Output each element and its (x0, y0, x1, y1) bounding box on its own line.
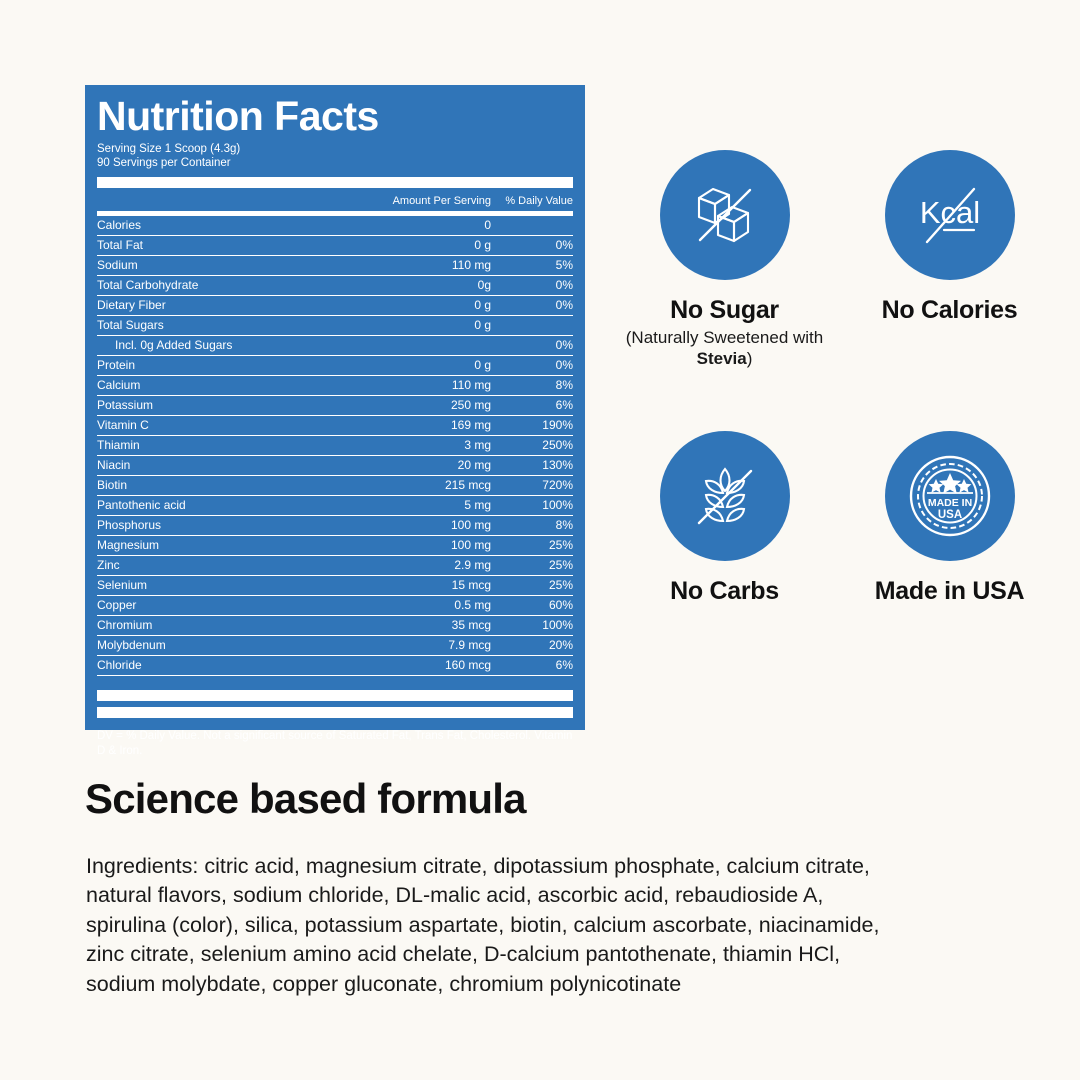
nutrient-daily-value: 25% (491, 538, 573, 552)
nutrient-amount: 3 mg (341, 438, 491, 452)
nutrient-amount: 0 (341, 218, 491, 232)
nutrient-row: Thiamin3 mg250% (97, 436, 573, 456)
badge-subtitle-prefix: (Naturally Sweetened with (626, 328, 823, 347)
nutrient-name: Thiamin (97, 438, 341, 452)
nutrient-amount: 35 mcg (341, 618, 491, 632)
nutrient-row: Phosphorus100 mg8% (97, 516, 573, 536)
nutrient-daily-value: 100% (491, 618, 573, 632)
nutrient-name: Niacin (97, 458, 341, 472)
nutrient-row: Total Fat0 g0% (97, 236, 573, 256)
nutrient-row: Pantothenic acid5 mg100% (97, 496, 573, 516)
ingredients-text: Ingredients: citric acid, magnesium citr… (86, 852, 886, 999)
badge-grid: No Sugar (Naturally Sweetened with Stevi… (612, 150, 1062, 606)
badge-circle-no-sugar (660, 150, 790, 280)
nutrient-row: Sodium110 mg5% (97, 256, 573, 276)
nutrition-facts-label: Nutrition Facts Serving Size 1 Scoop (4.… (85, 85, 585, 730)
nutrient-name: Incl. 0g Added Sugars (97, 338, 341, 352)
nutrient-name: Vitamin C (97, 418, 341, 432)
nutrient-daily-value: 0% (491, 358, 573, 372)
nutrient-amount: 0 g (341, 318, 491, 332)
nutrient-name: Molybdenum (97, 638, 341, 652)
nutrient-row: Chromium35 mcg100% (97, 616, 573, 636)
nutrient-daily-value: 0% (491, 298, 573, 312)
badge-no-calories: Kcal No Calories (837, 150, 1062, 369)
nutrient-amount: 0 g (341, 358, 491, 372)
nutrient-row: Dietary Fiber0 g0% (97, 296, 573, 316)
nutrient-name: Calcium (97, 378, 341, 392)
label-divider-footnote-b (97, 707, 573, 718)
nutrient-row: Potassium250 mg6% (97, 396, 573, 416)
badge-no-sugar: No Sugar (Naturally Sweetened with Stevi… (612, 150, 837, 369)
column-headers: Amount Per Serving % Daily Value (97, 192, 573, 209)
footnote-text: DV = % Daily Value. Not a significant so… (97, 722, 573, 760)
nutrient-row: Niacin20 mg130% (97, 456, 573, 476)
badge-title-no-calories: No Calories (837, 296, 1062, 325)
badge-circle-no-carbs (660, 431, 790, 561)
nutrient-daily-value: 720% (491, 478, 573, 492)
nutrient-amount: 100 mg (341, 518, 491, 532)
nutrient-row: Total Sugars0 g (97, 316, 573, 336)
footnote-area: DV = % Daily Value. Not a significant so… (97, 676, 573, 760)
nutrient-amount: 0g (341, 278, 491, 292)
nutrient-daily-value: 0% (491, 278, 573, 292)
badge-no-carbs: No Carbs (612, 431, 837, 606)
nutrient-daily-value: 5% (491, 258, 573, 272)
column-header-amount: Amount Per Serving (341, 195, 491, 207)
badge-circle-made-in-usa: MADE IN USA (885, 431, 1015, 561)
badge-title-no-sugar: No Sugar (612, 296, 837, 325)
nutrient-name: Magnesium (97, 538, 341, 552)
nutrient-amount: 20 mg (341, 458, 491, 472)
nutrient-name: Biotin (97, 478, 341, 492)
badge-subtitle-no-sugar: (Naturally Sweetened with Stevia) (612, 327, 837, 370)
nutrient-amount: 110 mg (341, 258, 491, 272)
nutrient-table: Calories0Total Fat0 g0%Sodium110 mg5%Tot… (97, 216, 573, 676)
nutrient-row: Zinc2.9 mg25% (97, 556, 573, 576)
badge-circle-no-calories: Kcal (885, 150, 1015, 280)
nutrient-row: Copper0.5 mg60% (97, 596, 573, 616)
nutrient-row: Magnesium100 mg25% (97, 536, 573, 556)
sugar-cubes-crossed-out-icon (686, 176, 764, 254)
label-divider-footnote-a (97, 690, 573, 701)
nutrient-name: Calories (97, 218, 341, 232)
nutrient-amount: 110 mg (341, 378, 491, 392)
nutrient-daily-value: 250% (491, 438, 573, 452)
nutrient-daily-value: 190% (491, 418, 573, 432)
kcal-icon-text: Kcal (919, 195, 979, 230)
nutrient-amount: 169 mg (341, 418, 491, 432)
nutrient-row: Calories0 (97, 216, 573, 236)
nutrient-daily-value: 8% (491, 518, 573, 532)
badge-title-no-carbs: No Carbs (612, 577, 837, 606)
nutrient-amount: 0 g (341, 298, 491, 312)
nutrient-name: Pantothenic acid (97, 498, 341, 512)
nutrient-name: Selenium (97, 578, 341, 592)
nutrient-daily-value: 0% (491, 338, 573, 352)
badge-subtitle-suffix: ) (747, 349, 753, 368)
nutrient-row: Chloride160 mcg6% (97, 656, 573, 676)
nutrient-name: Copper (97, 598, 341, 612)
seal-line-2: USA (937, 509, 961, 521)
nutrient-row: Selenium15 mcg25% (97, 576, 573, 596)
nutrient-row: Biotin215 mcg720% (97, 476, 573, 496)
nutrient-name: Total Carbohydrate (97, 278, 341, 292)
nutrient-amount: 160 mcg (341, 658, 491, 672)
nutrient-amount: 0.5 mg (341, 598, 491, 612)
nutrient-name: Protein (97, 358, 341, 372)
label-title: Nutrition Facts (97, 95, 573, 138)
badge-subtitle-bold: Stevia (697, 349, 747, 368)
nutrient-row: Protein0 g0% (97, 356, 573, 376)
nutrient-row: Vitamin C169 mg190% (97, 416, 573, 436)
nutrient-row: Incl. 0g Added Sugars0% (97, 336, 573, 356)
nutrient-amount: 2.9 mg (341, 558, 491, 572)
column-header-daily-value: % Daily Value (491, 195, 573, 207)
nutrient-daily-value: 8% (491, 378, 573, 392)
badge-made-in-usa: MADE IN USA Made in USA (837, 431, 1062, 606)
nutrient-daily-value: 20% (491, 638, 573, 652)
nutrient-amount: 0 g (341, 238, 491, 252)
nutrient-name: Total Sugars (97, 318, 341, 332)
nutrient-name: Chloride (97, 658, 341, 672)
nutrient-daily-value: 6% (491, 658, 573, 672)
nutrient-name: Phosphorus (97, 518, 341, 532)
nutrient-row: Molybdenum7.9 mcg20% (97, 636, 573, 656)
nutrient-amount: 15 mcg (341, 578, 491, 592)
nutrient-daily-value: 25% (491, 558, 573, 572)
label-divider-top (97, 177, 573, 188)
nutrient-row: Calcium110 mg8% (97, 376, 573, 396)
nutrient-daily-value: 60% (491, 598, 573, 612)
nutrient-amount: 250 mg (341, 398, 491, 412)
nutrient-name: Sodium (97, 258, 341, 272)
serving-size-text: Serving Size 1 Scoop (4.3g) (97, 142, 573, 156)
nutrient-amount: 5 mg (341, 498, 491, 512)
nutrient-daily-value: 100% (491, 498, 573, 512)
nutrient-name: Total Fat (97, 238, 341, 252)
nutrient-amount: 215 mcg (341, 478, 491, 492)
nutrient-amount: 7.9 mcg (341, 638, 491, 652)
nutrient-name: Chromium (97, 618, 341, 632)
wheat-crossed-out-icon (686, 457, 764, 535)
nutrient-row: Total Carbohydrate0g0% (97, 276, 573, 296)
nutrient-daily-value: 6% (491, 398, 573, 412)
nutrient-daily-value: 0% (491, 238, 573, 252)
seal-line-1: MADE IN (927, 497, 971, 509)
nutrient-name: Zinc (97, 558, 341, 572)
made-in-usa-seal-icon: MADE IN USA (904, 450, 996, 542)
nutrient-daily-value: 130% (491, 458, 573, 472)
page-title: Science based formula (85, 775, 526, 823)
nutrient-name: Potassium (97, 398, 341, 412)
kcal-crossed-out-icon: Kcal (907, 172, 993, 258)
badge-title-made-in-usa: Made in USA (837, 577, 1062, 606)
nutrient-daily-value: 25% (491, 578, 573, 592)
servings-per-container-text: 90 Servings per Container (97, 156, 573, 170)
nutrient-amount: 100 mg (341, 538, 491, 552)
nutrient-name: Dietary Fiber (97, 298, 341, 312)
